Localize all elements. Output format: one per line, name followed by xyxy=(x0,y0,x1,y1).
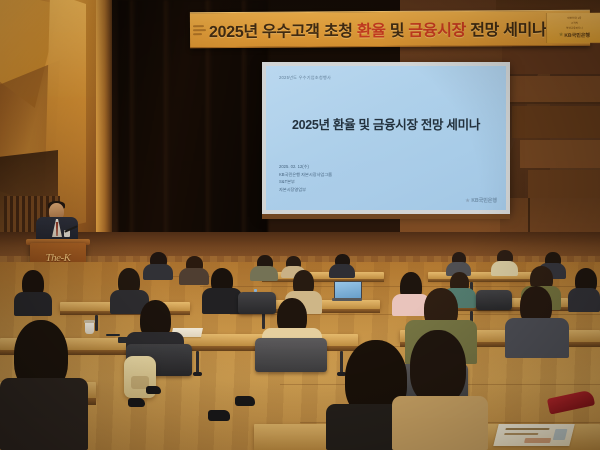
banner-title-prefix: 2025년 우수고객 초청 xyxy=(209,23,357,41)
kb-star-icon: ★ xyxy=(465,198,469,204)
desk-leg xyxy=(196,351,199,373)
slide-meta-division: S&T본부 xyxy=(279,178,332,186)
projection-screen: 2025년도 우수기업초청행사 2025년 환율 및 금융시장 전망 세미나 2… xyxy=(262,62,510,214)
coffee-cup[interactable] xyxy=(85,322,94,334)
banner-logo-sub-1: 대한민국 1등 xyxy=(567,17,581,21)
shoe xyxy=(128,398,145,407)
desk-leg xyxy=(340,351,343,373)
slide-meta-date: 2025. 02. 12(수) xyxy=(279,163,332,171)
slide-eyebrow: 2025년도 우수기업초청행사 xyxy=(279,75,493,81)
slide-logo-name: KB국민은행 xyxy=(471,197,497,204)
acoustic-panel xyxy=(520,140,600,168)
attendee-torso xyxy=(179,268,209,285)
slide-meta: 2025. 02. 12(수) KB국민은행 자본시장사업그룹 S&T본부 자본… xyxy=(279,163,332,194)
kb-star-icon: ★ xyxy=(559,32,564,38)
acoustic-panel xyxy=(502,76,600,104)
banner-title: 2025년 우수고객 초청 환율 및 금융시장 전망 세미나 xyxy=(209,16,547,42)
banner-logo-name-row: ★ KB국민은행 xyxy=(559,32,590,39)
attendee-torso xyxy=(202,288,242,314)
slide-title: 2025년 환율 및 금융시장 전망 세미나 xyxy=(266,114,506,133)
acoustic-panel xyxy=(512,106,600,138)
attendee-torso xyxy=(14,292,52,316)
printed-handout[interactable] xyxy=(493,424,574,446)
presentation-slide: 2025년도 우수기업초청행사 2025년 환율 및 금융시장 전망 세미나 2… xyxy=(266,66,506,210)
banner-title-suffix: 전망 세미나 xyxy=(466,22,547,39)
event-banner: 2025년 우수고객 초청 환율 및 금융시장 전망 세미나 대한민국 1등 고… xyxy=(190,10,590,48)
acoustic-panel xyxy=(502,44,600,74)
chair xyxy=(476,290,512,310)
banner-title-mid: 및 xyxy=(386,23,409,40)
slide-meta-team: 자본시장영업부 xyxy=(279,186,332,194)
wall-left-edge xyxy=(96,0,112,262)
banner-logo-sub-3: 평생금융파트너 xyxy=(566,27,583,31)
attendee-torso xyxy=(505,318,569,358)
attendee-torso xyxy=(0,378,88,450)
attendee-torso xyxy=(329,264,355,278)
desk-leg xyxy=(262,313,265,329)
shoe xyxy=(235,396,255,406)
attendee-torso xyxy=(491,261,518,276)
slide-kb-logo: ★ KB국민은행 xyxy=(465,197,497,204)
chair xyxy=(255,338,327,372)
banner-highlight-exchange-rate: 환율 xyxy=(357,23,386,40)
banner-highlight-financial-market: 금융시장 xyxy=(408,23,466,40)
banner-logo-sub-2: 고객의 xyxy=(571,22,578,26)
attendee-torso xyxy=(392,396,488,450)
slide-meta-org: KB국민은행 자본시장사업그룹 xyxy=(279,171,332,179)
attendee-torso xyxy=(250,266,278,281)
banner-kb-logo: 대한민국 1등 고객의 평생금융파트너 ★ KB국민은행 xyxy=(546,13,600,43)
attendee-torso xyxy=(143,264,173,280)
shoe xyxy=(208,410,230,421)
attendee-hair xyxy=(410,330,466,404)
desk-leg xyxy=(95,315,98,331)
acoustic-panel xyxy=(528,170,600,200)
shoe xyxy=(146,386,161,394)
desk-edge xyxy=(262,279,384,282)
pen[interactable] xyxy=(106,334,120,336)
laptop-base[interactable] xyxy=(332,298,362,301)
banner-left-mark-icon xyxy=(193,18,209,42)
desk-foot xyxy=(193,372,202,376)
seminar-room-photo: 2025년 우수고객 초청 환율 및 금융시장 전망 세미나 대한민국 1등 고… xyxy=(0,0,600,450)
attendee-torso xyxy=(568,288,600,312)
banner-logo-name: KB국민은행 xyxy=(564,32,590,39)
chair xyxy=(238,292,276,314)
